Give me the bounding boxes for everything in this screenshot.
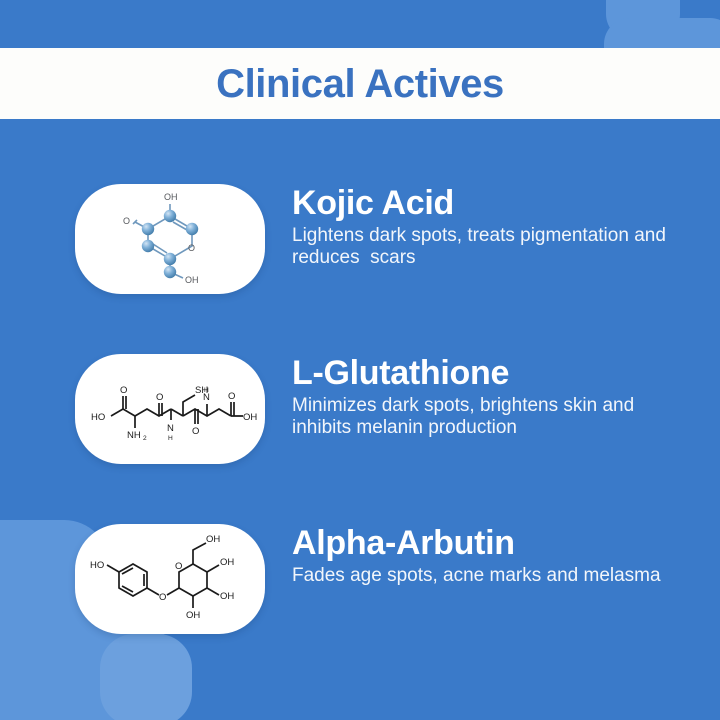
- atom-label: 2: [143, 435, 147, 442]
- atom-label: O: [156, 392, 163, 403]
- list-item: HO O NH 2 O N H SH O N H O OH L-Glutathi…: [0, 354, 720, 464]
- ingredient-name: Kojic Acid: [292, 186, 692, 222]
- list-item: OH O O OH Kojic Acid Lightens dark spots…: [0, 184, 720, 294]
- poster-canvas: Clinical Actives: [0, 0, 720, 720]
- atom-label: O: [120, 385, 127, 396]
- ingredient-text-block: Kojic Acid Lightens dark spots, treats p…: [292, 184, 692, 270]
- l-glutathione-structure: HO O NH 2 O N H SH O N H O OH: [75, 354, 265, 464]
- atom-label: O: [192, 426, 199, 437]
- atom-label: O: [228, 391, 235, 402]
- kojic-acid-structure: OH O O OH: [75, 184, 265, 294]
- alpha-arbutin-structure-card: HO O O OH OH OH OH: [75, 524, 265, 634]
- atom-label: O: [159, 592, 166, 603]
- ingredient-text-block: L-Glutathione Minimizes dark spots, brig…: [292, 354, 692, 440]
- ingredient-text-block: Alpha-Arbutin Fades age spots, acne mark…: [292, 524, 692, 587]
- l-glutathione-structure-card: HO O NH 2 O N H SH O N H O OH: [75, 354, 265, 464]
- atom-label: HO: [90, 560, 104, 571]
- atom-label: OH: [164, 192, 178, 202]
- atom-label: O: [188, 243, 195, 253]
- ingredient-name: L-Glutathione: [292, 356, 692, 392]
- atom-label: OH: [206, 534, 220, 545]
- atom-label: HO: [91, 412, 105, 423]
- atom-label: NH: [127, 430, 141, 441]
- atom-label: OH: [220, 591, 234, 602]
- ingredient-description: Lightens dark spots, treats pigmentation…: [292, 225, 684, 271]
- atom-label: H: [204, 387, 209, 394]
- ingredient-list: OH O O OH Kojic Acid Lightens dark spots…: [0, 0, 720, 720]
- list-item: HO O O OH OH OH OH Alpha-Arbutin Fades a…: [0, 524, 720, 634]
- atom-label: OH: [243, 412, 257, 423]
- ingredient-description: Minimizes dark spots, brightens skin and…: [292, 395, 684, 441]
- atom-label: OH: [220, 557, 234, 568]
- atom-label: O: [175, 561, 182, 572]
- atom-label: N: [167, 423, 174, 434]
- atom-label: H: [168, 435, 173, 442]
- atom-label: OH: [185, 275, 199, 285]
- ingredient-description: Fades age spots, acne marks and melasma: [292, 565, 684, 588]
- alpha-arbutin-structure: HO O O OH OH OH OH: [75, 524, 265, 634]
- atom-label: OH: [186, 610, 200, 621]
- kojic-acid-structure-card: OH O O OH: [75, 184, 265, 294]
- atom-label: O: [123, 216, 130, 226]
- ingredient-name: Alpha-Arbutin: [292, 526, 692, 562]
